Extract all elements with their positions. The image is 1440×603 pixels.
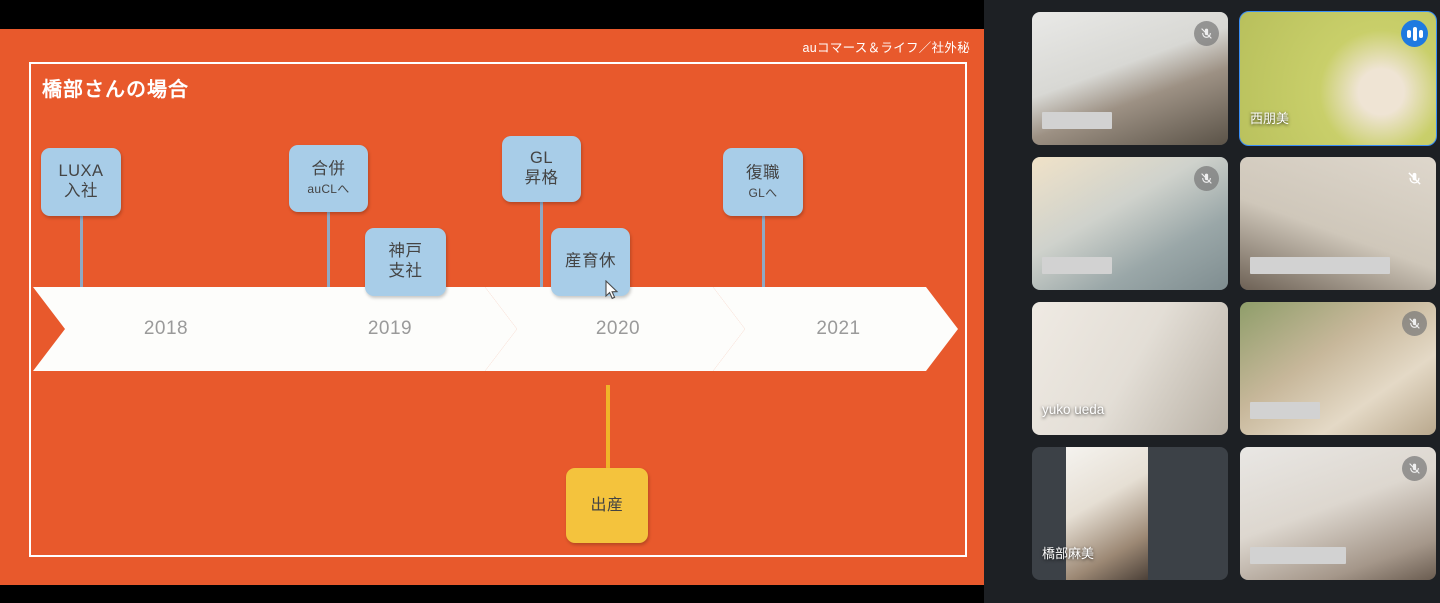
connector-stem-return [762,215,765,289]
connector-stem-gl [540,201,543,289]
event-card-line1: GL [530,149,553,169]
participant-name: 西朋美 [1250,108,1289,127]
timeline-year-label: 2020 [596,318,640,340]
participant-tile[interactable] [1240,302,1436,435]
participant-name-redacted [1250,257,1390,274]
participant-name-redacted [1042,257,1112,274]
timeline-segment-2019: 2019 [257,287,517,371]
event-card-line1: 神戸 [389,242,423,262]
mic-muted-icon [1402,311,1427,336]
event-card-merger: 合併 auCLへ [289,145,368,212]
participant-name-redacted [1042,112,1112,129]
shared-screen-region[interactable]: auコマース＆ライフ／社外秘 橋部さんの場合 2018 2019 2020 [0,0,984,603]
participant-name: yuko ueda [1042,402,1104,417]
event-card-line1: LUXA [58,162,103,182]
mic-muted-icon [1194,166,1219,191]
participant-tile[interactable] [1240,157,1436,290]
connector-stem-luxa [80,215,83,289]
slide-title: 橋部さんの場合 [42,73,189,102]
event-card-line2: 昇格 [525,169,559,189]
event-card-line1: 出産 [590,496,623,515]
event-card-line2: 入社 [64,182,98,202]
active-speaker-icon [1401,20,1428,47]
event-card-line2: GLへ [749,186,778,200]
presentation-slide: auコマース＆ライフ／社外秘 橋部さんの場合 2018 2019 2020 [0,29,984,585]
participant-tile-active-speaker[interactable]: 西朋美 [1240,12,1436,145]
screen-share-meeting-window: auコマース＆ライフ／社外秘 橋部さんの場合 2018 2019 2020 [0,0,1440,603]
timeline-segment-2018: 2018 [33,287,293,371]
timeline-year-label: 2021 [816,318,860,340]
event-card-line1: 産育休 [565,252,616,272]
participant-tile[interactable] [1032,157,1228,290]
event-card-return-to-work: 復職 GLへ [723,148,803,216]
mic-muted-icon [1402,166,1427,191]
participant-tile[interactable] [1032,12,1228,145]
timeline-track: 2018 2019 2020 2021 [33,287,958,371]
participant-video-rail[interactable]: 西朋美 yuko ueda [984,0,1440,603]
mic-muted-icon [1194,21,1219,46]
event-card-childbirth: 出産 [566,468,648,543]
participant-grid: 西朋美 yuko ueda [1032,12,1440,580]
event-card-luxa-join: LUXA 入社 [41,148,121,216]
event-card-maternity-leave: 産育休 [551,228,630,296]
participant-tile[interactable] [1240,447,1436,580]
participant-tile[interactable]: 橋部麻美 [1032,447,1228,580]
event-card-line1: 合併 [312,160,346,180]
connector-stem-merger [327,211,330,289]
participant-name-redacted [1250,402,1320,419]
timeline-year-label: 2018 [144,318,188,340]
event-card-kobe-branch: 神戸 支社 [365,228,446,296]
confidential-notice: auコマース＆ライフ／社外秘 [803,37,970,56]
participant-tile[interactable]: yuko ueda [1032,302,1228,435]
mic-muted-icon [1402,456,1427,481]
participant-name: 橋部麻美 [1042,543,1094,562]
event-card-line2: auCLへ [307,182,349,196]
event-card-line2: 支社 [389,262,423,282]
timeline-segment-2021: 2021 [713,287,958,371]
timeline-year-label: 2019 [368,318,412,340]
timeline-segment-2020: 2020 [485,287,745,371]
event-card-line1: 復職 [746,164,780,184]
participant-name-redacted [1250,547,1346,564]
event-card-gl-promotion: GL 昇格 [502,136,581,202]
